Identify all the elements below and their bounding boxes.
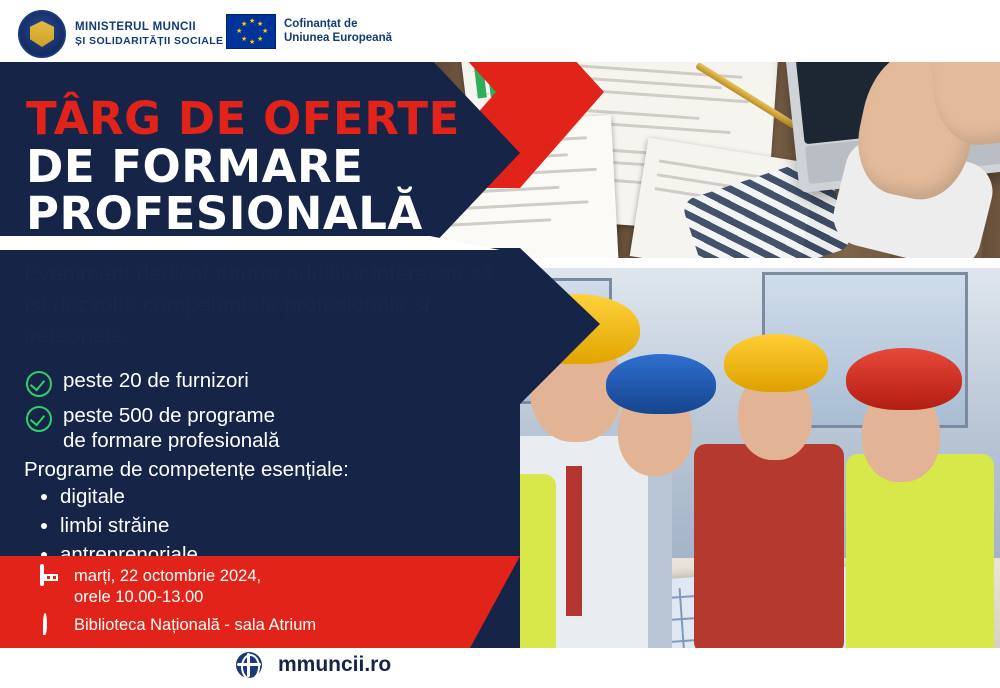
poster-canvas: MINISTERUL MUNCII ȘI SOLIDARITĂȚII SOCIA… (0, 0, 1000, 688)
event-date: marți, 22 octombrie 2024, orele 10.00-13… (74, 566, 261, 607)
worker-3-helmet (724, 334, 828, 392)
highlights-list: peste 20 de furnizori peste 500 de progr… (26, 368, 280, 459)
website-url[interactable]: mmuncii.ro (278, 653, 391, 677)
header-band: MINISTERUL MUNCII ȘI SOLIDARITĂȚII SOCIA… (0, 0, 1000, 62)
romania-coat-of-arms-icon (18, 10, 66, 58)
list-item: digitale (60, 482, 198, 511)
ministry-name: MINISTERUL MUNCII ȘI SOLIDARITĂȚII SOCIA… (75, 21, 223, 47)
event-location-row: Biblioteca Națională - sala Atrium (40, 615, 316, 637)
headline-line-2: DE FORMARE (26, 143, 460, 191)
ministry-line-1: MINISTERUL MUNCII (75, 21, 223, 35)
worker-2-helmet (606, 354, 716, 414)
globe-icon (236, 652, 262, 678)
highlight-text: peste 20 de furnizori (63, 368, 249, 393)
event-date-line-2: orele 10.00-13.00 (74, 588, 203, 606)
page-title: TÂRG DE OFERTE DE FORMARE PROFESIONALĂ (26, 96, 460, 238)
event-date-line-1: marți, 22 octombrie 2024, (74, 567, 261, 585)
intro-paragraph: Eveniment dedicat tuturor adulților inte… (24, 258, 494, 351)
programs-title: Programe de competențe esențiale: (24, 458, 349, 482)
footer-website[interactable]: mmuncii.ro (236, 652, 391, 678)
event-date-row: marți, 22 octombrie 2024, orele 10.00-13… (40, 566, 316, 607)
ministry-logo: MINISTERUL MUNCII ȘI SOLIDARITĂȚII SOCIA… (18, 10, 223, 58)
list-item: peste 20 de furnizori (26, 368, 280, 397)
map-pin-icon (40, 615, 62, 637)
list-item: peste 500 de programe de formare profesi… (26, 403, 280, 453)
check-circle-icon (26, 371, 52, 397)
headline-line-1: TÂRG DE OFERTE (26, 96, 460, 143)
eu-line-1: Cofinanțat de (284, 18, 392, 32)
highlight-text: peste 500 de programe de formare profesi… (63, 403, 280, 453)
worker-4-vest (846, 454, 994, 670)
headline-line-3: PROFESIONALĂ (26, 190, 460, 238)
calendar-icon (40, 566, 62, 588)
worker-1-tie (566, 466, 582, 616)
event-location: Biblioteca Națională - sala Atrium (74, 615, 316, 636)
worker-4-helmet (846, 348, 962, 410)
ministry-line-2: ȘI SOLIDARITĂȚII SOCIALE (75, 35, 223, 47)
eu-flag-icon: ★ ★ ★ ★ ★ ★ ★ ★ (226, 14, 276, 49)
list-item: limbi străine (60, 511, 198, 540)
eu-funding-text: Cofinanțat de Uniunea Europeană (284, 18, 392, 46)
check-circle-icon (26, 406, 52, 432)
footer-band (0, 648, 1000, 688)
worker-3-jacket (694, 444, 844, 654)
event-info: marți, 22 octombrie 2024, orele 10.00-13… (40, 566, 316, 645)
eu-line-2: Uniunea Europeană (284, 32, 392, 46)
eu-funding-logo: ★ ★ ★ ★ ★ ★ ★ ★ Cofinanțat de Uniunea Eu… (226, 14, 392, 49)
